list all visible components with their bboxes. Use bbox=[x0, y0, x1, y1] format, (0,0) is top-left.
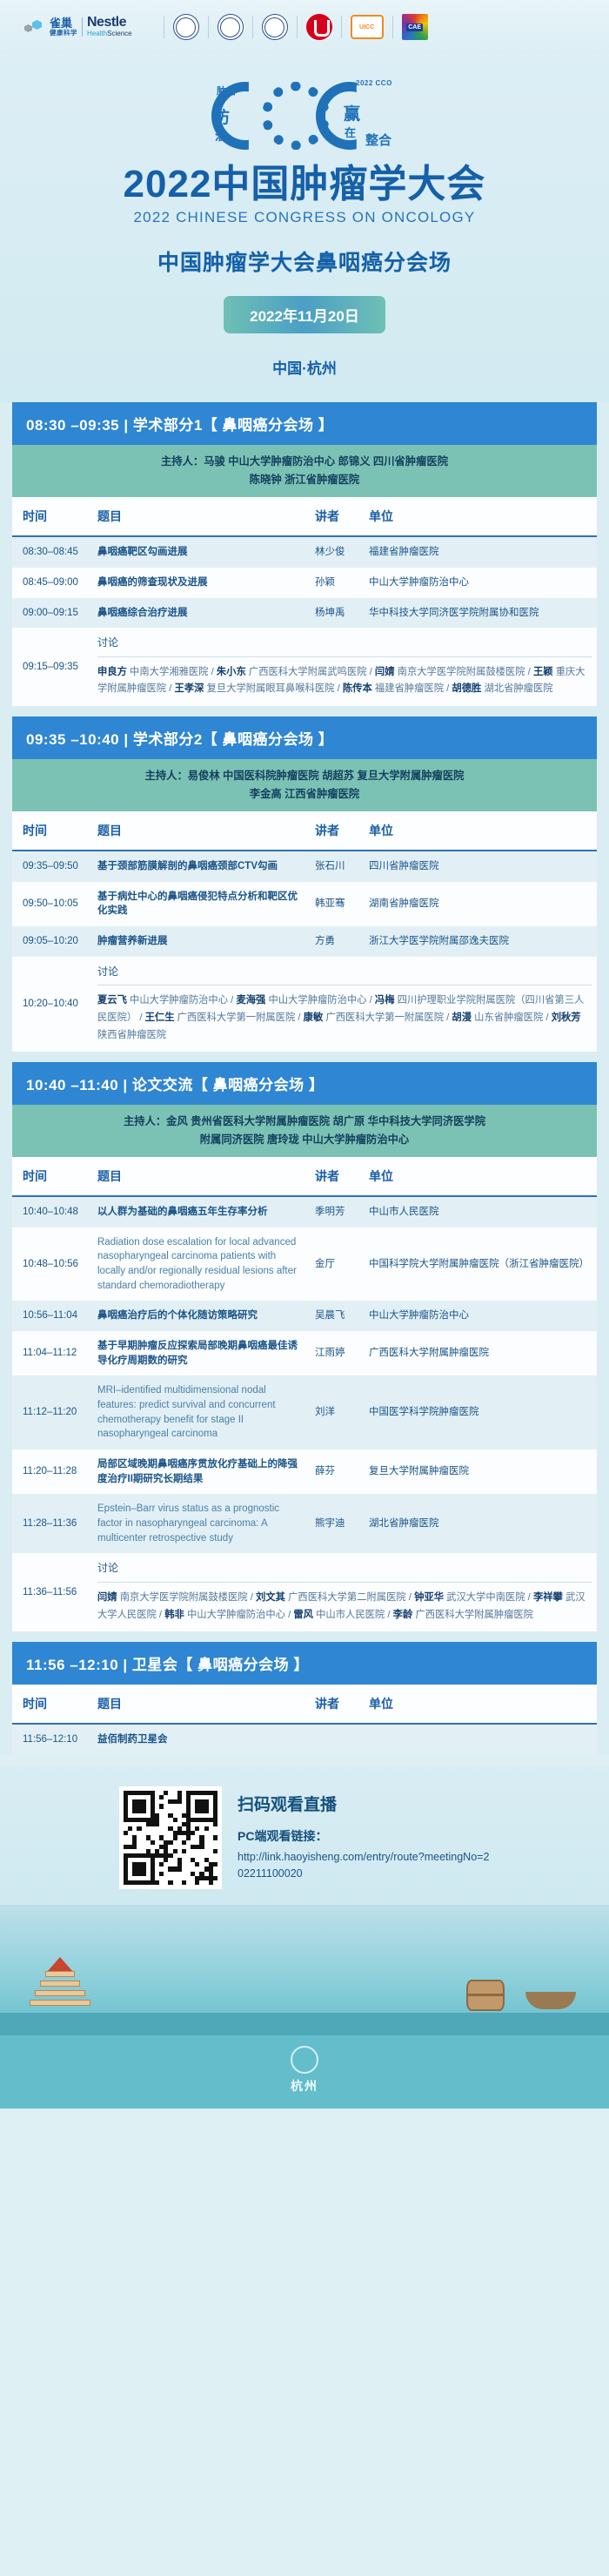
cco-word-prevent: 防 bbox=[213, 110, 230, 127]
cell-institution: 中山大学肿瘤防治中心 bbox=[364, 568, 597, 598]
pagoda-roof bbox=[48, 1957, 72, 1971]
talk-title: 益佰制药卫星会 bbox=[97, 1734, 168, 1745]
pc-link-url[interactable]: http://link.haoyisheng.com/entry/route?m… bbox=[238, 1849, 490, 1882]
session-hosts: 主持人：马骏 中山大学肿瘤防治中心 郎锦义 四川省肿瘤医院陈晓钟 浙江省肿瘤医院 bbox=[12, 445, 597, 497]
table-row: 11:20–11:28局部区域晚期鼻咽癌序贯放化疗基础上的降强度治疗II期研究长… bbox=[12, 1449, 597, 1494]
agenda-session: 10:40 –11:40 | 论文交流【 鼻咽癌分会场 】主持人：金风 贵州省医… bbox=[12, 1062, 597, 1631]
cell-institution: 中山市人民医院 bbox=[364, 1196, 597, 1227]
table-row: 09:50–10:05基于病灶中心的鼻咽癌侵犯特点分析和靶区优化实践韩亚骞湖南省… bbox=[12, 882, 597, 926]
discussant-name: 夏云飞 bbox=[97, 995, 127, 1006]
agenda-session: 11:56 –12:10 | 卫星会【 鼻咽癌分会场 】时间题目讲者单位11:5… bbox=[12, 1642, 597, 1755]
talk-title: 局部区域晚期鼻咽癌序贯放化疗基础上的降强度治疗II期研究长期结果 bbox=[97, 1459, 298, 1484]
discussant-institution: 中山大学肿瘤防治中心 bbox=[269, 995, 367, 1006]
pagoda-tier bbox=[45, 1971, 75, 1977]
talk-title-en: Radiation dose escalation for local adva… bbox=[97, 1237, 297, 1291]
column-header-time: 时间 bbox=[12, 1685, 92, 1724]
discussant-institution: 中山大学肿瘤防治中心 bbox=[187, 1610, 285, 1620]
hosts-prefix: 主持人： bbox=[124, 1115, 166, 1127]
column-header-time: 时间 bbox=[12, 1157, 92, 1196]
session-table: 时间题目讲者单位08:30–08:45鼻咽癌靶区勾画进展林少俊福建省肿瘤医院08… bbox=[12, 497, 597, 706]
discussant-institution: 广西医科大学附属武鸣医院 bbox=[249, 667, 367, 677]
talk-title: 鼻咽癌的筛查现状及进展 bbox=[97, 577, 208, 588]
discussant-institution: 广西医科大学第一附属医院 bbox=[325, 1012, 444, 1023]
talk-title: 鼻咽癌靶区勾画进展 bbox=[97, 547, 188, 557]
agenda-list: 08:30 –09:35 | 学术部分1【 鼻咽癌分会场 】主持人：马骏 中山大… bbox=[0, 402, 609, 1755]
discussant-institution: 广西医科大学附属肿瘤医院 bbox=[415, 1610, 533, 1620]
cell-time: 10:40–10:48 bbox=[12, 1196, 92, 1227]
session-header: 09:35 –10:40 | 学术部分2【 鼻咽癌分会场 】 bbox=[12, 716, 597, 759]
logo-divider bbox=[252, 16, 253, 38]
seal-cae-icon: CAE bbox=[402, 14, 428, 40]
column-header-title: 题目 bbox=[92, 1157, 310, 1196]
discussion-row: 09:15–09:35讨论申良方 中南大学湘雅医院 / 朱小东 广西医科大学附属… bbox=[12, 628, 597, 706]
discussant-name: 陈传本 bbox=[343, 683, 372, 694]
cco-word-at: 在 bbox=[345, 127, 356, 139]
cell-speaker: 季明芳 bbox=[310, 1196, 364, 1227]
discussion-row: 11:36–11:56讨论闫婧 南京大学医学院附属鼓楼医院 / 刘文其 广西医科… bbox=[12, 1553, 597, 1631]
cell-speaker: 韩亚骞 bbox=[310, 882, 364, 926]
livestream-qr-code[interactable] bbox=[119, 1786, 222, 1889]
nestle-en-sub: HealthScience bbox=[87, 30, 132, 37]
discussant-name: 麦海强 bbox=[236, 995, 265, 1006]
talk-title: 肿瘤营养新进展 bbox=[97, 936, 168, 946]
cell-institution: 华中科技大学同济医学院附属协和医院 bbox=[364, 598, 597, 629]
column-header-institution: 单位 bbox=[364, 1157, 597, 1196]
poster-page: 雀巢 健康科学 Nestle HealthScience UICC CAE 肿瘤 bbox=[0, 0, 609, 2109]
qr-module bbox=[213, 1880, 217, 1885]
session-header: 08:30 –09:35 | 学术部分1【 鼻咽癌分会场 】 bbox=[12, 402, 597, 445]
nestle-logo: 雀巢 健康科学 Nestle HealthScience bbox=[23, 16, 132, 37]
date-badge: 2022年11月20日 bbox=[224, 296, 385, 333]
cell-time: 09:00–09:15 bbox=[12, 598, 92, 629]
discussant-name: 闫婧 bbox=[97, 1592, 117, 1603]
cell-time: 10:56–11:04 bbox=[12, 1301, 92, 1331]
discussion-label: 讨论 bbox=[97, 965, 592, 985]
pagoda-tier bbox=[35, 1990, 85, 1996]
cell-time: 09:50–10:05 bbox=[12, 882, 92, 926]
cell-institution: 浙江大学医学院附属邵逸夫医院 bbox=[364, 926, 597, 957]
cell-title: 局部区域晚期鼻咽癌序贯放化疗基础上的降强度治疗II期研究长期结果 bbox=[92, 1449, 310, 1494]
cell-institution: 福建省肿瘤医院 bbox=[364, 536, 597, 568]
discussant-name: 王仁生 bbox=[145, 1012, 175, 1023]
qr-text-block: 扫码观看直播 PC端观看链接： http://link.haoyisheng.c… bbox=[238, 1786, 490, 1882]
cell-title: 鼻咽癌治疗后的个体化随访策略研究 bbox=[92, 1301, 310, 1331]
hosts-line-1: 易俊林 中国医科院肿瘤医院 胡超苏 复旦大学附属肿瘤医院 bbox=[188, 770, 465, 782]
discussant-name: 钟亚华 bbox=[414, 1592, 444, 1603]
column-header-time: 时间 bbox=[12, 497, 92, 536]
cell-title: Radiation dose escalation for local adva… bbox=[92, 1227, 310, 1301]
discussant-institution: 中南大学湘雅医院 bbox=[130, 667, 208, 677]
logo-divider bbox=[341, 16, 342, 38]
column-header-title: 题目 bbox=[92, 497, 310, 536]
table-row: 10:48–10:56Radiation dose escalation for… bbox=[12, 1227, 597, 1301]
cell-institution: 中国医学科学院肿瘤医院 bbox=[364, 1375, 597, 1449]
discussion-row: 10:20–10:40讨论夏云飞 中山大学肿瘤防治中心 / 麦海强 中山大学肿瘤… bbox=[12, 957, 597, 1053]
location-text: 中国·杭州 bbox=[0, 356, 609, 402]
cell-time: 08:30–08:45 bbox=[12, 536, 92, 568]
hosts-prefix: 主持人： bbox=[145, 770, 188, 782]
hero-section: 肿瘤 防 治 赢 在 整合 2022 CCO 2022中国肿瘤学大会 2022 … bbox=[0, 54, 609, 402]
hosts-prefix: 主持人： bbox=[161, 455, 204, 467]
discussant-institution: 福建省肿瘤医院 bbox=[375, 683, 444, 694]
cell-institution bbox=[364, 1724, 597, 1755]
cell-discussion: 讨论闫婧 南京大学医学院附属鼓楼医院 / 刘文其 广西医科大学第二附属医院 / … bbox=[92, 1553, 597, 1631]
cco-word-win: 赢 bbox=[344, 106, 360, 124]
hosts-line-1: 马骏 中山大学肿瘤防治中心 郎锦义 四川省肿瘤医院 bbox=[204, 455, 448, 467]
discussant-name: 刘秋芳 bbox=[552, 1012, 581, 1023]
table-row: 11:56–12:10益佰制药卫星会 bbox=[12, 1724, 597, 1755]
cell-speaker bbox=[310, 1724, 364, 1755]
session-header: 10:40 –11:40 | 论文交流【 鼻咽癌分会场 】 bbox=[12, 1062, 597, 1105]
cco-logo-icon: 肿瘤 防 治 赢 在 整合 2022 CCO bbox=[204, 73, 405, 160]
nestle-divider bbox=[82, 17, 83, 37]
nestle-science-text: Science bbox=[107, 30, 131, 37]
cell-time: 11:04–11:12 bbox=[12, 1331, 92, 1375]
cell-time: 11:12–11:20 bbox=[12, 1375, 92, 1449]
footer-brand-text: 杭州 bbox=[291, 2046, 318, 2095]
cell-speaker: 薛芬 bbox=[310, 1449, 364, 1494]
table-row: 11:12–11:20MRI–identified multidimension… bbox=[12, 1375, 597, 1449]
session-header: 11:56 –12:10 | 卫星会【 鼻咽癌分会场 】 bbox=[12, 1642, 597, 1685]
column-header-speaker: 讲者 bbox=[310, 1157, 364, 1196]
cell-title: 基于病灶中心的鼻咽癌侵犯特点分析和靶区优化实践 bbox=[92, 882, 310, 926]
table-row: 11:04–11:12基于早期肿瘤反应探索局部晚期鼻咽癌最佳诱导化疗周期数的研究… bbox=[12, 1331, 597, 1375]
cell-title: MRI–identified multidimensional nodal fe… bbox=[92, 1375, 310, 1449]
column-header-speaker: 讲者 bbox=[310, 811, 364, 851]
table-row: 09:00–09:15鼻咽癌综合治疗进展杨坤禹华中科技大学同济医学院附属协和医院 bbox=[12, 598, 597, 629]
talk-title: 基于病灶中心的鼻咽癌侵犯特点分析和靶区优化实践 bbox=[97, 891, 298, 917]
cell-time: 11:28–11:36 bbox=[12, 1494, 92, 1553]
cell-institution: 中山大学肿瘤防治中心 bbox=[364, 1301, 597, 1331]
cell-time: 08:45–09:00 bbox=[12, 568, 92, 598]
column-header-speaker: 讲者 bbox=[310, 497, 364, 536]
table-row: 11:28–11:36Epstein–Barr virus status as … bbox=[12, 1494, 597, 1553]
cell-speaker: 孙颖 bbox=[310, 568, 364, 598]
discussant-institution: 南京大学医学院附属鼓楼医院 bbox=[120, 1592, 248, 1603]
logo-divider bbox=[392, 16, 393, 38]
table-row: 09:05–10:20肿瘤营养新进展方勇浙江大学医学院附属邵逸夫医院 bbox=[12, 926, 597, 957]
talk-title: 基于颈部筋膜解剖的鼻咽癌颈部CTV勾画 bbox=[97, 861, 278, 871]
cell-time: 09:15–09:35 bbox=[12, 628, 92, 706]
discussant-name: 冯梅 bbox=[375, 995, 395, 1006]
cell-title: 鼻咽癌的筛查现状及进展 bbox=[92, 568, 310, 598]
hosts-line-2: 陈晓钟 浙江省肿瘤医院 bbox=[250, 474, 359, 486]
table-row: 10:56–11:04鼻咽癌治疗后的个体化随访策略研究吴晨飞中山大学肿瘤防治中心 bbox=[12, 1301, 597, 1331]
nestle-nest-icon bbox=[23, 19, 45, 35]
cell-title: 肿瘤营养新进展 bbox=[92, 926, 310, 957]
nestle-cn-text: 雀巢 bbox=[50, 17, 72, 30]
discussant-name: 李龄 bbox=[393, 1610, 413, 1620]
nestle-cn-sub: 健康科学 bbox=[50, 30, 77, 37]
cell-title: 以人群为基础的鼻咽癌五年生存率分析 bbox=[92, 1196, 310, 1227]
page-title-english: 2022 CHINESE CONGRESS ON ONCOLOGY bbox=[0, 209, 609, 226]
cell-time: 09:35–09:50 bbox=[12, 851, 92, 882]
qr-heading: 扫码观看直播 bbox=[238, 1792, 490, 1815]
page-title: 2022中国肿瘤学大会 bbox=[0, 164, 609, 205]
pagoda-tier bbox=[30, 2000, 90, 2006]
discussant-institution: 武汉大学中南医院 bbox=[446, 1592, 525, 1603]
talk-title: 鼻咽癌综合治疗进展 bbox=[97, 608, 188, 618]
table-row: 08:45–09:00鼻咽癌的筛查现状及进展孙颖中山大学肿瘤防治中心 bbox=[12, 568, 597, 598]
discussant-institution: 广西医科大学第一附属医院 bbox=[177, 1012, 296, 1023]
agenda-session: 08:30 –09:35 | 学术部分1【 鼻咽癌分会场 】主持人：马骏 中山大… bbox=[12, 402, 597, 706]
cell-speaker: 张石川 bbox=[310, 851, 364, 882]
discussant-name: 韩非 bbox=[164, 1610, 184, 1620]
discussant-name: 雷风 bbox=[293, 1610, 313, 1620]
discussant-name: 胡德胜 bbox=[452, 683, 481, 694]
seal-csco-icon bbox=[262, 14, 288, 40]
cco-word-year: 2022 CCO bbox=[356, 80, 392, 87]
cell-speaker: 杨坤禹 bbox=[310, 598, 364, 629]
session-table: 时间题目讲者单位11:56–12:10益佰制药卫星会 bbox=[12, 1685, 597, 1755]
cell-time: 09:05–10:20 bbox=[12, 926, 92, 957]
cell-speaker: 金厅 bbox=[310, 1227, 364, 1301]
seal-cacs-icon bbox=[173, 14, 199, 40]
discussant-institution: 广西医科大学第二附属医院 bbox=[288, 1592, 406, 1603]
column-header-speaker: 讲者 bbox=[310, 1685, 364, 1724]
cell-title: 基于早期肿瘤反应探索局部晚期鼻咽癌最佳诱导化疗周期数的研究 bbox=[92, 1331, 310, 1375]
nestle-health-text: Health bbox=[87, 30, 107, 37]
seal-uicc-icon: UICC bbox=[351, 15, 384, 39]
discussant-name: 康敏 bbox=[304, 1012, 324, 1023]
cell-title: 益佰制药卫星会 bbox=[92, 1724, 310, 1755]
discussion-members: 夏云飞 中山大学肿瘤防治中心 / 麦海强 中山大学肿瘤防治中心 / 冯梅 四川护… bbox=[97, 992, 592, 1044]
cell-time: 10:48–10:56 bbox=[12, 1227, 92, 1301]
session-hosts: 主持人：金风 贵州省医科大学附属肿瘤医院 胡广原 华中科技大学同济医学院附属同济… bbox=[12, 1105, 597, 1157]
logo-divider bbox=[164, 16, 164, 38]
pagoda-tier bbox=[40, 1981, 80, 1987]
discussant-institution: 南京大学医学院附属鼓楼医院 bbox=[398, 667, 525, 677]
cell-institution: 湖北省肿瘤医院 bbox=[364, 1494, 597, 1553]
discussant-name: 胡漫 bbox=[452, 1012, 472, 1023]
cell-institution: 四川省肿瘤医院 bbox=[364, 851, 597, 882]
pagoda-icon bbox=[30, 1952, 90, 2006]
talk-title-en: Epstein–Barr virus status as a prognosti… bbox=[97, 1503, 279, 1543]
discussant-name: 申良方 bbox=[97, 667, 127, 677]
discussant-name: 刘文其 bbox=[256, 1592, 285, 1603]
pc-link-label: PC端观看链接： bbox=[238, 1827, 490, 1845]
footer-section: 扫码观看直播 PC端观看链接： http://link.haoyisheng.c… bbox=[0, 1766, 609, 2109]
column-header-institution: 单位 bbox=[364, 1685, 597, 1724]
logo-divider bbox=[297, 16, 298, 38]
cco-word-tumor: 肿瘤 bbox=[217, 87, 236, 98]
sponsor-bar: 雀巢 健康科学 Nestle HealthScience UICC CAE bbox=[0, 0, 609, 54]
seal-red-icon bbox=[306, 14, 332, 40]
discussion-members: 闫婧 南京大学医学院附属鼓楼医院 / 刘文其 广西医科大学第二附属医院 / 钟亚… bbox=[97, 1590, 592, 1624]
cell-title: 基于颈部筋膜解剖的鼻咽癌颈部CTV勾画 bbox=[92, 851, 310, 882]
column-header-title: 题目 bbox=[92, 811, 310, 851]
cell-time: 11:20–11:28 bbox=[12, 1449, 92, 1494]
talk-title-en: MRI–identified multidimensional nodal fe… bbox=[97, 1385, 276, 1439]
table-row: 10:40–10:48以人群为基础的鼻咽癌五年生存率分析季明芳中山市人民医院 bbox=[12, 1196, 597, 1227]
discussion-label: 讨论 bbox=[97, 1561, 592, 1582]
discussant-institution: 山东省肿瘤医院 bbox=[474, 1012, 543, 1023]
scenery-illustration bbox=[0, 1905, 609, 2035]
cell-speaker: 吴晨飞 bbox=[310, 1301, 364, 1331]
session-hosts: 主持人：易俊林 中国医科院肿瘤医院 胡超苏 复旦大学附属肿瘤医院李金高 江西省肿… bbox=[12, 759, 597, 811]
discussant-name: 朱小东 bbox=[217, 667, 246, 677]
nestle-english-name: Nestle HealthScience bbox=[87, 16, 132, 37]
cell-speaker: 方勇 bbox=[310, 926, 364, 957]
discussant-name: 闫婧 bbox=[375, 667, 395, 677]
cell-time: 10:20–10:40 bbox=[12, 957, 92, 1053]
column-header-institution: 单位 bbox=[364, 811, 597, 851]
cell-title: 鼻咽癌综合治疗进展 bbox=[92, 598, 310, 629]
column-header-institution: 单位 bbox=[364, 497, 597, 536]
discussant-name: 李祥攀 bbox=[533, 1592, 563, 1603]
discussant-institution: 陕西省肿瘤医院 bbox=[97, 1030, 166, 1040]
session-table: 时间题目讲者单位09:35–09:50基于颈部筋膜解剖的鼻咽癌颈部CTV勾画张石… bbox=[12, 811, 597, 1052]
talk-title: 以人群为基础的鼻咽癌五年生存率分析 bbox=[97, 1207, 268, 1217]
barrel-icon bbox=[466, 1980, 505, 2011]
logo-divider bbox=[208, 16, 209, 38]
session-table: 时间题目讲者单位10:40–10:48以人群为基础的鼻咽癌五年生存率分析季明芳中… bbox=[12, 1157, 597, 1631]
discussant-institution: 湖北省肿瘤医院 bbox=[484, 683, 552, 694]
discussant-institution: 复旦大学附属眼耳鼻喉科医院 bbox=[207, 683, 335, 694]
talk-title: 基于早期肿瘤反应探索局部晚期鼻咽癌最佳诱导化疗周期数的研究 bbox=[97, 1341, 298, 1366]
discussion-label: 讨论 bbox=[97, 636, 592, 656]
cell-speaker: 熊宇迪 bbox=[310, 1494, 364, 1553]
page-subtitle: 中国肿瘤学大会鼻咽癌分会场 bbox=[0, 245, 609, 277]
talk-title: 鼻咽癌治疗后的个体化随访策略研究 bbox=[97, 1310, 258, 1321]
cco-word-treat: 治 bbox=[215, 131, 226, 143]
qr-block: 扫码观看直播 PC端观看链接： http://link.haoyisheng.c… bbox=[0, 1786, 609, 1905]
cell-discussion: 讨论申良方 中南大学湘雅医院 / 朱小东 广西医科大学附属武鸣医院 / 闫婧 南… bbox=[92, 628, 597, 706]
cell-time: 11:36–11:56 bbox=[12, 1553, 92, 1631]
cell-speaker: 江雨婷 bbox=[310, 1331, 364, 1375]
cell-institution: 湖南省肿瘤医院 bbox=[364, 882, 597, 926]
nestle-en-text: Nestle bbox=[87, 16, 132, 30]
cell-speaker: 林少俊 bbox=[310, 536, 364, 568]
table-row: 09:35–09:50基于颈部筋膜解剖的鼻咽癌颈部CTV勾画张石川四川省肿瘤医院 bbox=[12, 851, 597, 882]
column-header-title: 题目 bbox=[92, 1685, 310, 1724]
seal-cma-icon bbox=[217, 14, 244, 40]
cco-word-integration: 整合 bbox=[365, 134, 391, 148]
agenda-session: 09:35 –10:40 | 学术部分2【 鼻咽癌分会场 】主持人：易俊林 中国… bbox=[12, 716, 597, 1052]
table-row: 08:30–08:45鼻咽癌靶区勾画进展林少俊福建省肿瘤医院 bbox=[12, 536, 597, 568]
boat-icon bbox=[525, 1992, 576, 2009]
discussant-name: 王颖 bbox=[533, 667, 553, 677]
discussant-name: 王孝深 bbox=[175, 683, 204, 694]
cell-time: 11:56–12:10 bbox=[12, 1724, 92, 1755]
cell-institution: 复旦大学附属肿瘤医院 bbox=[364, 1449, 597, 1494]
cell-speaker: 刘洋 bbox=[310, 1375, 364, 1449]
cell-institution: 中国科学院大学附属肿瘤医院（浙江省肿瘤医院） bbox=[364, 1227, 597, 1301]
discussant-institution: 中山市人民医院 bbox=[316, 1610, 385, 1620]
column-header-time: 时间 bbox=[12, 811, 92, 851]
hosts-line-2: 附属同济医院 唐玲珑 中山大学肿瘤防治中心 bbox=[200, 1133, 409, 1146]
footer-brand: 杭州 bbox=[0, 2035, 609, 2109]
hosts-line-1: 金风 贵州省医科大学附属肿瘤医院 胡广原 华中科技大学同济医学院 bbox=[166, 1115, 485, 1127]
cell-institution: 广西医科大学附属肿瘤医院 bbox=[364, 1331, 597, 1375]
discussion-members: 申良方 中南大学湘雅医院 / 朱小东 广西医科大学附属武鸣医院 / 闫婧 南京大… bbox=[97, 664, 592, 699]
cell-discussion: 讨论夏云飞 中山大学肿瘤防治中心 / 麦海强 中山大学肿瘤防治中心 / 冯梅 四… bbox=[92, 957, 597, 1053]
hosts-line-2: 李金高 江西省肿瘤医院 bbox=[250, 788, 359, 800]
nestle-chinese-name: 雀巢 健康科学 bbox=[50, 17, 77, 37]
discussant-institution: 中山大学肿瘤防治中心 bbox=[130, 995, 228, 1006]
cell-title: Epstein–Barr virus status as a prognosti… bbox=[92, 1494, 310, 1553]
cell-title: 鼻咽癌靶区勾画进展 bbox=[92, 536, 310, 568]
grass-band bbox=[0, 2013, 609, 2035]
